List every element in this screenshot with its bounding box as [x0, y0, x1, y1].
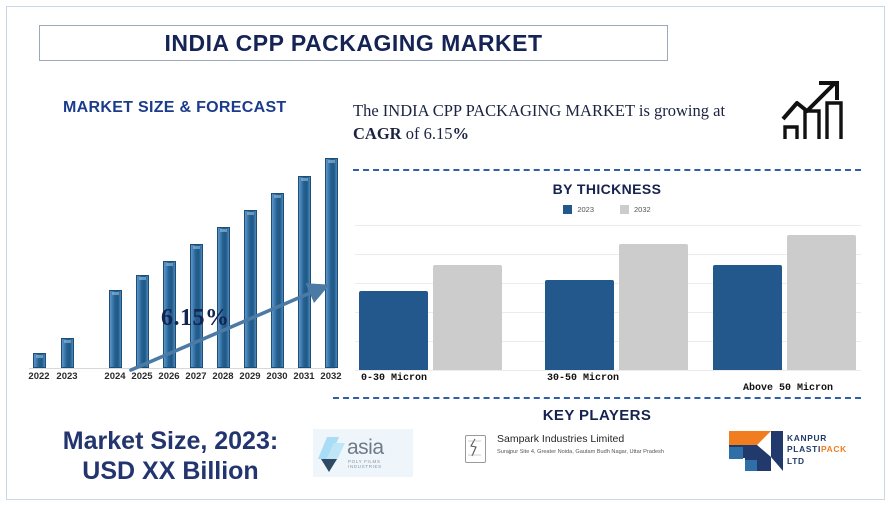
legend-label-2023: 2023	[577, 205, 594, 214]
forecast-bar-2024	[109, 290, 122, 368]
asia-subtitle: POLY FILMS INDUSTRIES	[348, 459, 413, 469]
market-size-forecast-heading: MARKET SIZE & FORECAST	[63, 99, 287, 117]
market-size-line2: USD XX Billion	[33, 457, 308, 487]
bar-chart-growth-icon	[777, 77, 851, 149]
forecast-year-label-2028: 2028	[209, 371, 237, 382]
forecast-year-label-2023: 2023	[53, 371, 81, 382]
infographic-page: INDIA CPP PACKAGING MARKET MARKET SIZE &…	[0, 0, 893, 507]
bar-highlight	[64, 340, 71, 343]
legend-swatch-2032	[620, 205, 629, 214]
forecast-year-axis: 2022202320242025202620272028202920302031…	[21, 371, 339, 391]
tagline-middle: of 6.15	[402, 124, 453, 143]
sampark-company-name: Sampark Industries Limited	[497, 433, 624, 445]
forecast-year-label-2032: 2032	[317, 371, 345, 382]
bar-highlight	[166, 263, 173, 266]
sampark-logo-icon	[465, 435, 486, 463]
forecast-year-label-2025: 2025	[128, 371, 156, 382]
bar-highlight	[220, 229, 227, 232]
forecast-year-label-2030: 2030	[263, 371, 291, 382]
page-title: INDIA CPP PACKAGING MARKET	[164, 30, 542, 57]
asia-poly-films-logo-icon: asia POLY FILMS INDUSTRIES	[313, 429, 413, 477]
bar-highlight	[274, 195, 281, 198]
forecast-year-label-2031: 2031	[290, 371, 318, 382]
tagline-prefix: The INDIA CPP PACKAGING MARKET is growin…	[353, 101, 725, 120]
key-player-kanpur-plastipack: KANPUR PLASTIPACK LTD	[727, 425, 867, 477]
tagline-percent: %	[452, 124, 469, 143]
kanpur-plastipack-logo-icon	[727, 425, 785, 477]
by-thickness-chart: 0-30 Micron30-50 MicronAbove 50 Micron	[355, 225, 861, 390]
kanpur-line-2b: PACK	[821, 444, 847, 454]
forecast-year-label-2022: 2022	[25, 371, 53, 382]
thickness-bar-30-50-micron-2023	[545, 280, 614, 370]
forecast-bar-2023	[61, 338, 74, 368]
thickness-category-label-2: Above 50 Micron	[743, 383, 833, 394]
tagline-cagr-bold: CAGR	[353, 124, 402, 143]
forecast-year-label-2029: 2029	[236, 371, 264, 382]
gridline-0	[355, 225, 861, 226]
legend-label-2032: 2032	[634, 205, 651, 214]
legend-item-2023[interactable]: 2023	[563, 205, 594, 214]
asia-wordmark: asia	[347, 436, 384, 460]
bar-highlight	[328, 160, 335, 163]
bar-highlight	[301, 178, 308, 181]
sampark-company-address: Surajpur Site 4, Greater Noida, Gautam B…	[497, 448, 679, 456]
bar-highlight	[247, 212, 254, 215]
forecast-year-label-2027: 2027	[182, 371, 210, 382]
kanpur-line-3: LTD	[787, 456, 847, 467]
cagr-callout-left: 6.15%	[161, 305, 230, 332]
market-size-forecast-chart: 6.15% 2022202320242025202620272028202920…	[21, 147, 339, 397]
forecast-year-label-2024: 2024	[101, 371, 129, 382]
bar-highlight	[112, 292, 119, 295]
divider-bottom	[333, 397, 861, 399]
outer-frame: INDIA CPP PACKAGING MARKET MARKET SIZE &…	[6, 6, 885, 500]
thickness-category-label-0: 0-30 Micron	[361, 373, 427, 384]
kanpur-line-1: KANPUR	[787, 433, 847, 444]
forecast-bar-2022	[33, 353, 46, 368]
key-players-heading: KEY PLAYERS	[333, 407, 861, 424]
kanpur-line-2a: PLASTI	[787, 444, 821, 454]
market-size-line1: Market Size, 2023:	[33, 427, 308, 457]
report-title-box: INDIA CPP PACKAGING MARKET	[39, 25, 668, 61]
thickness-bar-0-30-micron-2032	[433, 265, 502, 370]
thickness-bar-0-30-micron-2023	[359, 291, 428, 370]
key-player-sampark: Sampark Industries Limited Surajpur Site…	[465, 433, 695, 479]
asia-mark-icon	[315, 429, 349, 477]
thickness-bar-above-50-micron-2023	[713, 265, 782, 370]
market-size-value: Market Size, 2023: USD XX Billion	[33, 427, 308, 486]
bar-highlight	[36, 355, 43, 358]
gridline-1	[355, 254, 861, 255]
thickness-bar-30-50-micron-2032	[619, 244, 688, 370]
legend-item-2032[interactable]: 2032	[620, 205, 651, 214]
thickness-chart-legend: 20232032	[353, 205, 861, 214]
legend-swatch-2023	[563, 205, 572, 214]
cagr-tagline: The INDIA CPP PACKAGING MARKET is growin…	[353, 99, 753, 146]
thickness-bar-above-50-micron-2032	[787, 235, 856, 370]
divider-top	[353, 169, 861, 171]
kanpur-wordmark: KANPUR PLASTIPACK LTD	[787, 433, 847, 467]
forecast-year-label-2026: 2026	[155, 371, 183, 382]
thickness-category-label-1: 30-50 Micron	[547, 373, 619, 384]
by-thickness-heading: BY THICKNESS	[353, 181, 861, 197]
gridline-5	[355, 370, 861, 371]
bar-highlight	[193, 246, 200, 249]
sampark-bolt-icon	[466, 436, 483, 460]
